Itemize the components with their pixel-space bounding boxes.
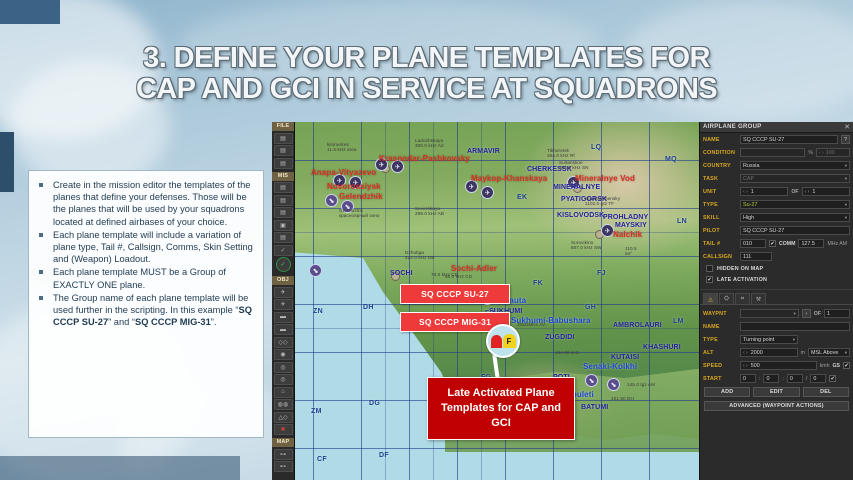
field-row-name: NAME SQ CCCP SU-27 ?	[700, 133, 853, 146]
city-label: KUTAISI	[611, 354, 639, 361]
save-disk-icon[interactable]: ▤	[274, 158, 293, 169]
airplane-group-panel: AIRPLANE GROUP ✕ NAME SQ CCCP SU-27 ? CO…	[699, 122, 853, 480]
callsign-label: CALLSIGN	[703, 254, 737, 260]
magnifier-circle: F	[486, 324, 520, 358]
open-folder-icon[interactable]: ▤	[274, 145, 293, 156]
unit-stepper[interactable]: 1	[740, 187, 788, 196]
late-activation-checkbox[interactable]: ✔	[706, 276, 713, 283]
field-row-type: TYPE Su-27 ▾	[700, 198, 853, 211]
del-button[interactable]: DEL	[803, 387, 849, 397]
payload-tab-icon[interactable]: ⛭	[719, 293, 734, 304]
waypoint-tab-bar: ◬ ⛭ ⌗ ⚒	[700, 289, 853, 304]
speed-mode-label: GS	[833, 363, 841, 369]
grid-label: EK	[517, 194, 527, 201]
grid-label: ZM	[311, 408, 322, 415]
condition-label: CONDITION	[703, 150, 737, 156]
late-activation-label: LATE ACTIVATION	[717, 277, 767, 283]
late-activation-row[interactable]: ✔ LATE ACTIVATION	[700, 274, 853, 285]
delete-icon[interactable]: ✖	[274, 424, 293, 435]
time-separator: :	[759, 376, 760, 382]
coalition-icon[interactable]: ▤	[274, 232, 293, 243]
start-seconds-input[interactable]: 0	[787, 374, 803, 383]
slide-title: 3. DEFINE YOUR PLANE TEMPLATES FOR CAP A…	[0, 30, 853, 118]
title-line-1: 3. DEFINE YOUR PLANE TEMPLATES FOR	[143, 43, 710, 74]
airbase-label-red: Maykop-Khanskaya	[471, 174, 547, 183]
properties-tab-icon[interactable]: ⚒	[751, 293, 766, 304]
tail-label: TAIL #	[703, 241, 737, 247]
briefing-icon[interactable]: ▤	[274, 182, 293, 193]
speed-unit-label: kmh	[820, 363, 830, 369]
city-label: MAYSKIY	[615, 222, 647, 229]
field-row-task: TASK CAP ▾	[700, 172, 853, 185]
field-row-callsign: CALLSIGN 111	[700, 250, 853, 263]
field-row-unit: UNIT 1 OF 1	[700, 185, 853, 198]
helicopter-icon[interactable]: ✈	[274, 299, 293, 310]
start-day-input[interactable]: 0	[810, 374, 826, 383]
accent-bar-left	[0, 132, 14, 192]
waypoint-action-buttons: ADD EDIT DEL	[700, 385, 853, 399]
city-label: KHASHURI	[643, 344, 681, 351]
percent-label: %	[808, 150, 813, 156]
alt-reference-value: MSL Above	[811, 349, 838, 357]
advanced-waypoint-actions-button[interactable]: ADVANCED (WAYPOINT ACTIONS)	[704, 401, 849, 411]
unit-of-label: OF	[791, 189, 798, 195]
yellow-unit-marker-icon: F	[503, 334, 516, 348]
comm-frequency-input[interactable]: 127.5	[798, 239, 824, 248]
wp-type-label: TYPE	[703, 337, 737, 343]
task-label: TASK	[703, 176, 737, 182]
bullet-text: Each plane template will include a varia…	[53, 230, 253, 264]
accent-bar-top	[0, 0, 60, 24]
plane-icon[interactable]: ✈	[274, 287, 293, 298]
name-input[interactable]: SQ CCCP SU-27	[740, 135, 838, 144]
static-icon[interactable]: ◉	[274, 349, 293, 360]
skill-select[interactable]: High ▾	[740, 213, 850, 222]
new-file-icon[interactable]: ▤	[274, 133, 293, 144]
close-icon[interactable]: ✕	[844, 123, 850, 131]
city-label: AMBROLAURI	[613, 322, 662, 329]
unit-marker[interactable]: ⬊	[607, 378, 620, 391]
panel-title: AIRPLANE GROUP	[703, 124, 762, 130]
city-label: PROHLADNY	[603, 214, 648, 221]
toolbar-section-file: FILE	[272, 122, 294, 131]
start-enabled-checkbox[interactable]: ✔	[829, 375, 836, 382]
chevron-down-icon: ▾	[794, 310, 796, 318]
skill-value: High	[743, 214, 754, 222]
airbase-label-red: Novorossiysk	[327, 182, 381, 191]
edit-button[interactable]: EDIT	[753, 387, 799, 397]
speed-label: SPEED	[703, 363, 737, 369]
train-icon[interactable]: ◇◇	[274, 337, 293, 348]
add-button[interactable]: ADD	[704, 387, 750, 397]
time-separator: :	[782, 376, 783, 382]
field-row-wp-name: NAME	[700, 320, 853, 333]
city-label: MINERALNYE	[553, 184, 600, 191]
field-row-country: COUNTRY Russia ▾	[700, 159, 853, 172]
target-icon[interactable]: ◎	[274, 374, 293, 385]
airbase-label-red: Nalchik	[613, 230, 642, 239]
options-icon[interactable]: ▣	[274, 220, 293, 231]
toolbar-section-map: MAP	[272, 438, 294, 447]
alt-reference-select[interactable]: MSL Above ▾	[808, 348, 850, 357]
wp-name-input[interactable]	[740, 322, 850, 331]
name-label: NAME	[703, 137, 737, 143]
alt-label: ALT	[703, 350, 737, 356]
type-label: TYPE	[703, 202, 737, 208]
list-item: Each plane template will include a varia…	[35, 229, 255, 266]
speed-input[interactable]: 500	[740, 361, 817, 370]
airbase-label-red: Mineralnye Vod	[575, 174, 635, 183]
city-label: SOCHI	[390, 270, 413, 277]
unit-marker[interactable]: ⬊	[325, 194, 338, 207]
wp-type-select[interactable]: Turning point ▾	[740, 335, 798, 344]
bullet-list: Create in the mission editor the templat…	[35, 179, 255, 328]
field-row-waypnt: WAYPNT ▾ › OF 1	[700, 307, 853, 320]
field-row-skill: SKILL High ▾	[700, 211, 853, 224]
panel-title-bar: AIRPLANE GROUP ✕	[700, 122, 853, 133]
comm-checkbox[interactable]: ✔	[769, 240, 776, 247]
airbase-label-red: Krasnodar-Pashkovsky	[379, 154, 470, 163]
start-minutes-input[interactable]: 0	[763, 374, 779, 383]
grid-label: LM	[673, 318, 684, 325]
chevron-down-icon: ▾	[793, 336, 795, 344]
day-separator: /	[806, 376, 807, 382]
country-label: COUNTRY	[703, 163, 737, 169]
editor-toolbar: FILE ▤ ▤ ▤ MIS ▤ ▤ ▤ ▣ ▤ ✓ ✓ OBJ ✈ ✈ ▬ ▬…	[272, 122, 295, 480]
city-label: KISLOVODSK	[557, 212, 604, 219]
field-row-pilot: PILOT SQ CCCP SU-27	[700, 224, 853, 237]
vehicle-icon[interactable]: ▬	[274, 324, 293, 335]
grid-line-vertical	[385, 122, 386, 480]
task-select[interactable]: CAP ▾	[740, 174, 850, 183]
comm-label: COMM	[779, 241, 795, 247]
grid-label: LN	[677, 218, 687, 225]
pilot-input[interactable]: SQ CCCP SU-27	[740, 226, 850, 235]
callout-box: Late Activated Plane Templates for CAP a…	[427, 377, 575, 440]
callsign-input[interactable]: 111	[740, 252, 772, 261]
accent-bar-bottom	[0, 456, 240, 480]
validate-icon[interactable]: ✓	[276, 257, 291, 272]
type-select[interactable]: Su-27 ▾	[740, 200, 850, 209]
waypoint-panel: WAYPNT ▾ › OF 1 NAME TYPE Turning point …	[700, 304, 853, 413]
grid-label: MQ	[665, 156, 677, 163]
grid-line-horizontal	[295, 160, 699, 161]
unit-label: UNIT	[703, 189, 737, 195]
alt-unit-label: m	[801, 350, 805, 356]
field-row-condition: CONDITION % ‹ › 100	[700, 146, 853, 159]
help-icon[interactable]: ?	[841, 135, 850, 144]
field-row-start: START 0 : 0 : 0 / 0 ✔	[700, 372, 853, 385]
grid-line-vertical	[649, 122, 650, 480]
chevron-down-icon: ▾	[845, 349, 847, 357]
waypnt-of-label: OF	[814, 311, 821, 317]
hidden-on-map-label: HIDDEN ON MAP	[717, 266, 763, 272]
grid-label: DG	[369, 400, 380, 407]
sam-icon[interactable]: ◎	[274, 362, 293, 373]
chevron-down-icon: ▾	[845, 201, 847, 209]
airbase-label-red: Anapa-Vityazevo	[311, 168, 376, 177]
advanced-actions-row: ADVANCED (WAYPOINT ACTIONS)	[700, 399, 853, 413]
bullet-text: The Group name of each plane template wi…	[53, 293, 252, 327]
grid-label: LQ	[591, 144, 601, 151]
city-label: BATUMI	[581, 404, 608, 411]
skill-label: SKILL	[703, 215, 737, 221]
warehouse-icon[interactable]: ⌂	[274, 387, 293, 398]
summary-tab-icon[interactable]: ⌗	[735, 293, 750, 304]
route-tab-icon[interactable]: ◬	[703, 293, 718, 304]
country-value: Russia	[743, 162, 759, 170]
hidden-on-map-row[interactable]: HIDDEN ON MAP	[700, 263, 853, 274]
tail-input[interactable]: 010	[740, 239, 766, 248]
alt-input[interactable]: 2000	[740, 348, 798, 357]
airbase-label-red: Gelendzhik	[339, 192, 383, 201]
cargo-icon[interactable]: ◍◍	[274, 399, 293, 410]
ruler-icon[interactable]: ⊶	[274, 449, 293, 460]
grid-label: GH	[585, 304, 596, 311]
field-row-alt: ALT 2000 m MSL Above ▾	[700, 346, 853, 359]
mission-editor-window: FILE ▤ ▤ ▤ MIS ▤ ▤ ▤ ▣ ▤ ✓ ✓ OBJ ✈ ✈ ▬ ▬…	[272, 122, 853, 480]
unit-marker[interactable]: ⬊	[585, 374, 598, 387]
start-hours-input[interactable]: 0	[740, 374, 756, 383]
condition-input[interactable]	[740, 148, 805, 157]
waypnt-select[interactable]: ▾	[740, 309, 799, 318]
list-item: Create in the mission editor the templat…	[35, 179, 255, 228]
triggerzone-icon[interactable]: △◇	[274, 412, 293, 423]
chevron-down-icon: ▾	[845, 162, 847, 170]
toolbar-section-mis: MIS	[272, 172, 294, 181]
city-label: ZUGDIDI	[545, 334, 574, 341]
country-select[interactable]: Russia ▾	[740, 161, 850, 170]
waypnt-total-input[interactable]: 1	[824, 309, 850, 318]
grid-line-horizontal	[295, 256, 699, 257]
grid-line-horizontal	[295, 448, 699, 449]
field-row-tail: TAIL # 010 ✔ COMM 127.5 MHz AM	[700, 237, 853, 250]
group-label-su27: SQ CCCP SU-27	[400, 284, 510, 304]
pilot-label: PILOT	[703, 228, 737, 234]
bullet-panel: Create in the mission editor the templat…	[28, 170, 264, 438]
failures-icon[interactable]: ▤	[274, 207, 293, 218]
bullet-text: Create in the mission editor the templat…	[53, 180, 250, 227]
hidden-on-map-checkbox[interactable]	[706, 265, 713, 272]
field-row-wp-type: TYPE Turning point ▾	[700, 333, 853, 346]
check-icon[interactable]: ✓	[274, 245, 293, 256]
type-value: Su-27	[743, 201, 757, 209]
unit-marker[interactable]: ✈	[481, 186, 494, 199]
waypnt-label: WAYPNT	[703, 311, 737, 317]
airbase-label-blue: Senaki-Kolkhi	[583, 362, 637, 371]
chevron-down-icon: ▾	[845, 214, 847, 222]
chevron-down-icon: ▾	[845, 175, 847, 183]
wp-name-label: NAME	[703, 324, 737, 330]
grid-label: DF	[379, 452, 389, 459]
title-line-2: CAP AND GCI IN SERVICE AT SQUADRONS	[136, 74, 717, 105]
unit-total-stepper[interactable]: 1	[802, 187, 850, 196]
grid-label: FK	[533, 280, 543, 287]
city-label: ARMAVIR	[467, 148, 500, 155]
red-unit-marker-icon	[491, 335, 502, 348]
toolbar-section-obj: OBJ	[272, 276, 294, 285]
wp-type-value: Turning point	[743, 336, 774, 344]
editor-map-canvas[interactable]: LQ MQ EK FJ FK ZN ZM DH DG EG FG CF DF F…	[295, 122, 699, 480]
grid-label: FJ	[597, 270, 606, 277]
unit-marker[interactable]: ⬊	[309, 264, 322, 277]
bullet-text: Each plane template MUST be a Group of E…	[53, 267, 226, 289]
field-row-speed: SPEED 500 kmh GS ✔	[700, 359, 853, 372]
speed-mode-checkbox[interactable]: ✔	[843, 362, 850, 369]
list-item: Each plane template MUST be a Group of E…	[35, 266, 255, 290]
list-item: The Group name of each plane template wi…	[35, 292, 255, 329]
grid-label: CF	[317, 456, 327, 463]
grid-label: ZN	[313, 308, 323, 315]
comm-unit-label: MHz AM	[827, 241, 847, 247]
grid-label: DH	[363, 304, 374, 311]
start-label: START	[703, 376, 737, 382]
condition-spinner[interactable]: ‹ › 100	[816, 148, 850, 157]
measure-icon[interactable]: ⊷	[274, 461, 293, 472]
weather-icon[interactable]: ▤	[274, 195, 293, 206]
ship-icon[interactable]: ▬	[274, 312, 293, 323]
waypnt-next-button[interactable]: ›	[802, 309, 811, 318]
task-value: CAP	[743, 175, 754, 183]
